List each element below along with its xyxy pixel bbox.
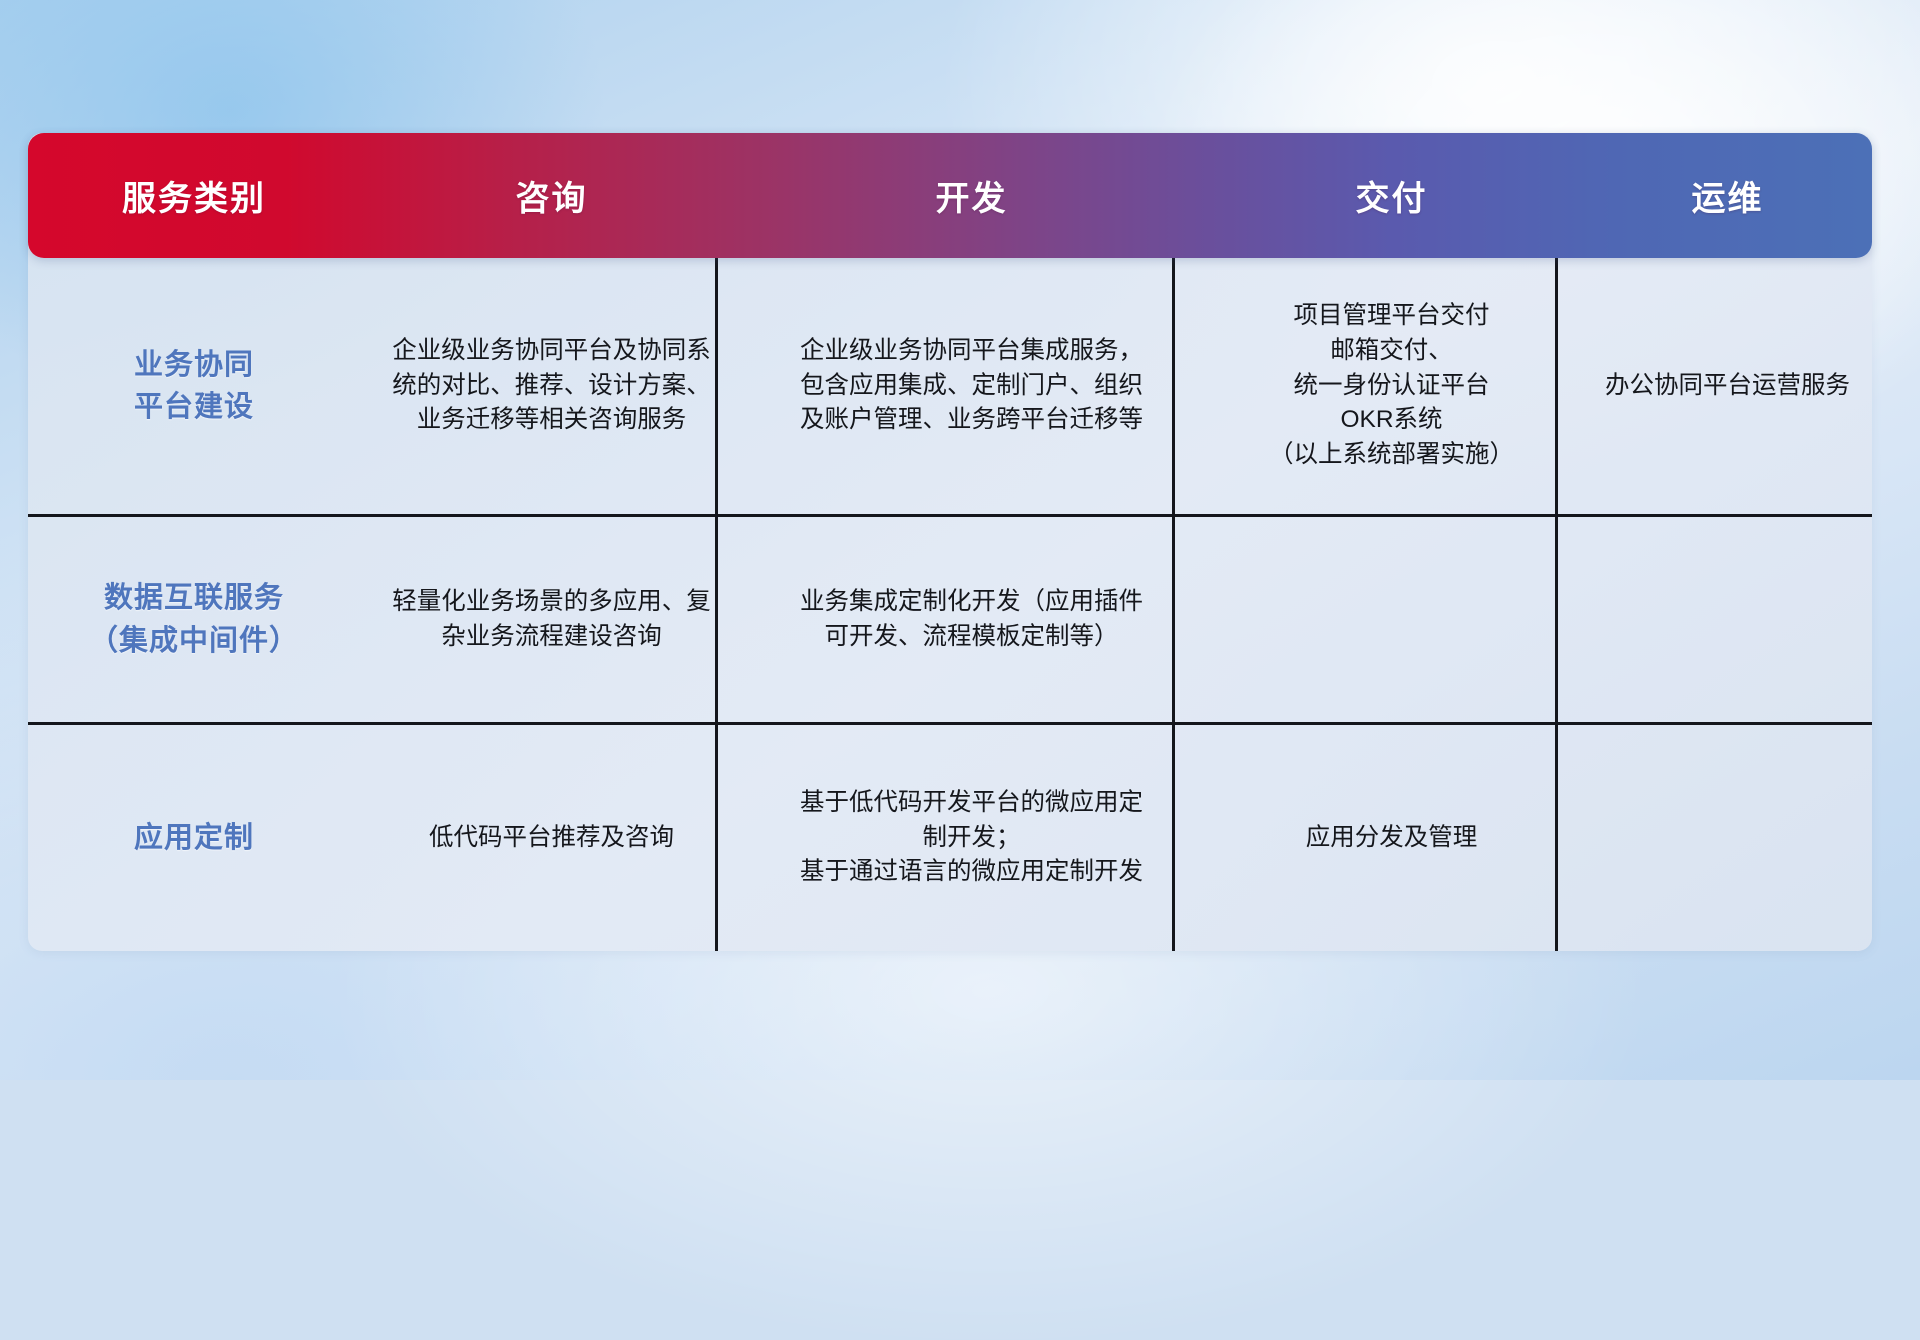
- cell-development: 基于低代码开发平台的微应用定 制开发； 基于通过语言的微应用定制开发: [743, 786, 1200, 890]
- row-category-label: 应用定制: [28, 817, 360, 859]
- row-category-label: 业务协同 平台建设: [28, 344, 360, 428]
- cell-operations: 办公协同平台运营服务: [1583, 369, 1872, 404]
- cell-development: 业务集成定制化开发（应用插件 可开发、流程模板定制等）: [743, 585, 1200, 655]
- table-rows: 业务协同 平台建设 企业级业务协同平台及协同系 统的对比、推荐、设计方案、 业务…: [28, 258, 1872, 951]
- column-header-delivery: 交付: [1200, 171, 1583, 220]
- row-category-label: 数据互联服务 （集成中间件）: [28, 577, 360, 661]
- column-header-operations: 运维: [1583, 171, 1872, 220]
- slide-canvas: 服务类别 咨询 开发 交付 运维 业务协同 平台建设 企业级业务协同平台及协同系…: [0, 0, 1920, 1080]
- cell-consulting: 企业级业务协同平台及协同系 统的对比、推荐、设计方案、 业务迁移等相关咨询服务: [360, 334, 743, 438]
- column-header-consulting: 咨询: [360, 171, 743, 220]
- table-row: 业务协同 平台建设 企业级业务协同平台及协同系 统的对比、推荐、设计方案、 业务…: [28, 258, 1872, 514]
- table-header-bar: 服务类别 咨询 开发 交付 运维: [28, 133, 1872, 258]
- cell-delivery: 应用分发及管理: [1200, 821, 1583, 856]
- cell-development: 企业级业务协同平台集成服务， 包含应用集成、定制门户、组织 及账户管理、业务跨平…: [743, 334, 1200, 438]
- table-row: 应用定制 低代码平台推荐及咨询 基于低代码开发平台的微应用定 制开发； 基于通过…: [28, 725, 1872, 951]
- cell-delivery: 项目管理平台交付 邮箱交付、 统一身份认证平台 OKR系统 （以上系统部署实施）: [1200, 299, 1583, 473]
- column-header-development: 开发: [743, 171, 1200, 220]
- table-row: 数据互联服务 （集成中间件） 轻量化业务场景的多应用、复 杂业务流程建设咨询 业…: [28, 517, 1872, 722]
- cell-consulting: 低代码平台推荐及咨询: [360, 821, 743, 856]
- cell-consulting: 轻量化业务场景的多应用、复 杂业务流程建设咨询: [360, 585, 743, 655]
- service-matrix-table: 服务类别 咨询 开发 交付 运维 业务协同 平台建设 企业级业务协同平台及协同系…: [28, 133, 1872, 951]
- column-header-service-category: 服务类别: [28, 171, 360, 220]
